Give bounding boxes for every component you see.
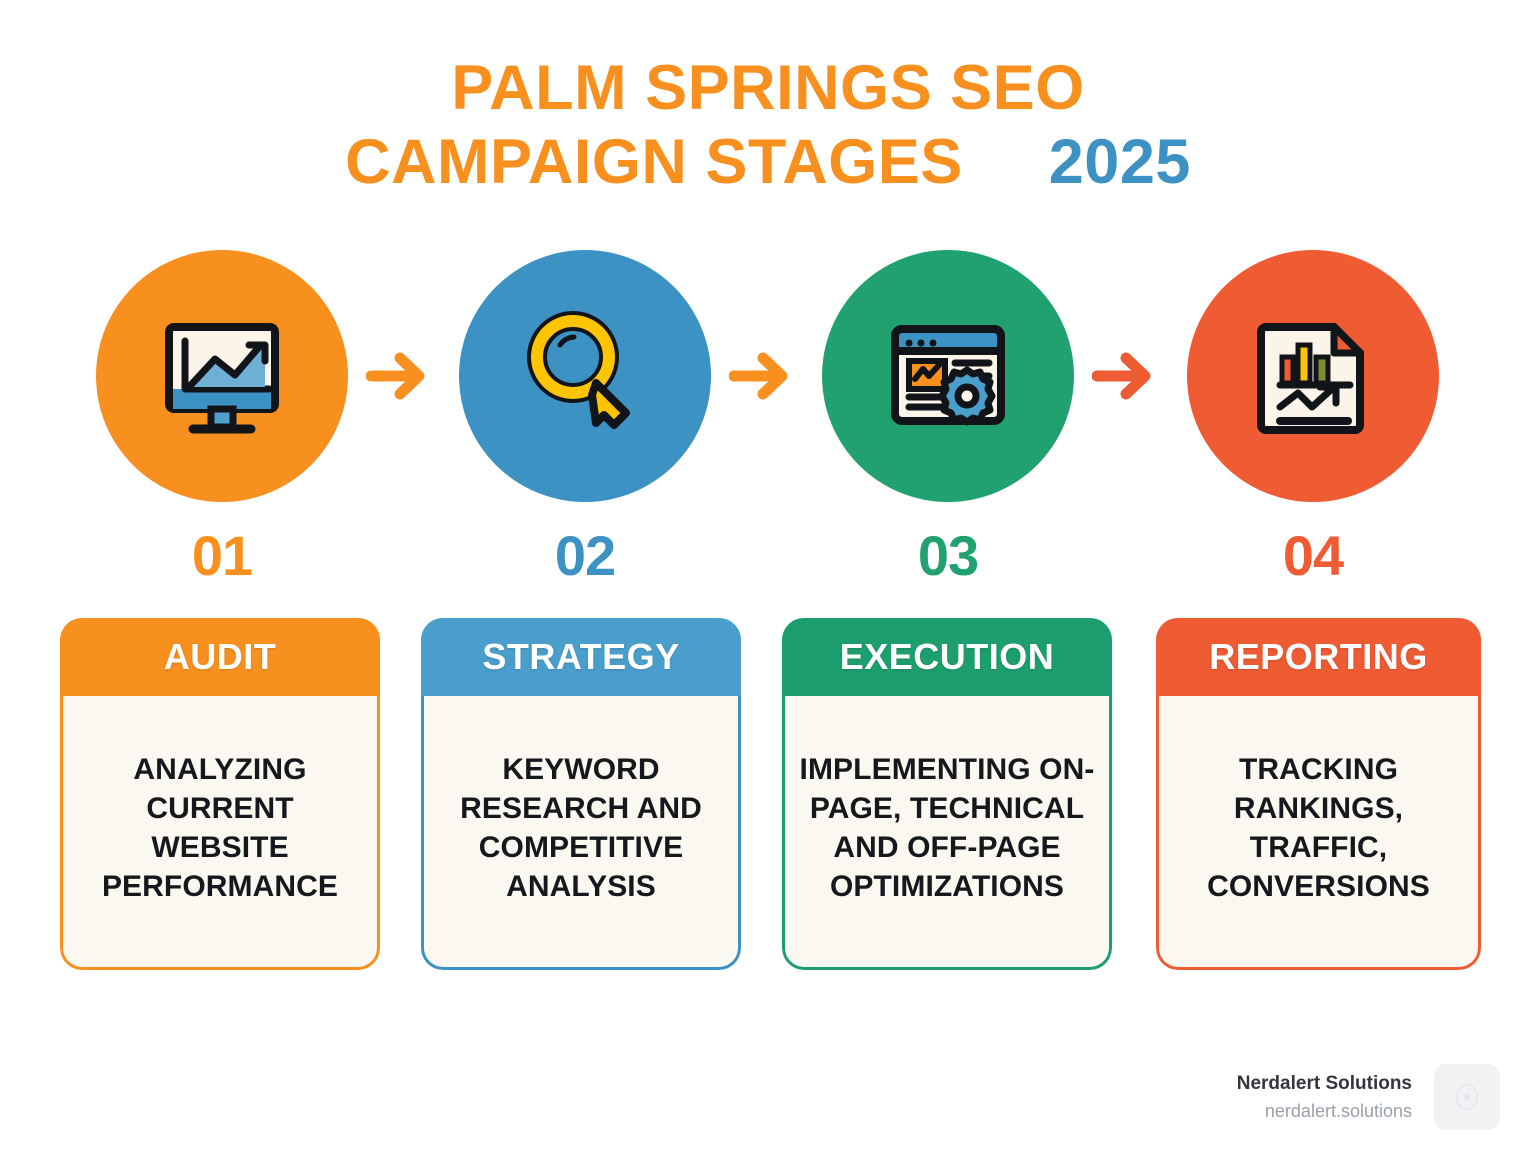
stage-1-icon-circle xyxy=(96,250,348,502)
page-title: PALM SPRINGS SEO CAMPAIGN STAGES2025 xyxy=(0,52,1536,199)
title-line-2-row: CAMPAIGN STAGES2025 xyxy=(0,126,1536,200)
stage-3-description: IMPLEMENTING ON-PAGE, TECHNICAL AND OFF-… xyxy=(799,750,1095,906)
stage-card-reporting: REPORTING TRACKING RANKINGS, TRAFFIC, CO… xyxy=(1156,618,1481,970)
brand-logo-placeholder xyxy=(1434,1064,1500,1130)
egg-mark-icon xyxy=(1452,1081,1482,1113)
title-line-1: PALM SPRINGS SEO xyxy=(0,52,1536,126)
footer-brand-name: Nerdalert Solutions xyxy=(1237,1070,1412,1098)
stage-4-number: 04 xyxy=(1187,528,1439,584)
stage-3-number: 03 xyxy=(822,528,1074,584)
monitor-chart-icon xyxy=(147,301,297,451)
title-year: 2025 xyxy=(1049,127,1191,197)
stage-2-description: KEYWORD RESEARCH AND COMPETITIVE ANALYSI… xyxy=(438,750,724,906)
stage-4-header: REPORTING xyxy=(1156,618,1481,696)
stage-icon-row xyxy=(0,250,1536,502)
magnifying-glass-icon xyxy=(510,301,660,451)
arrow-1 xyxy=(366,346,430,406)
stage-1-description: ANALYZING CURRENT WEBSITE PERFORMANCE xyxy=(77,750,363,906)
stage-number-row: 01 02 03 04 xyxy=(0,528,1536,594)
stage-4-body: TRACKING RANKINGS, TRAFFIC, CONVERSIONS xyxy=(1156,696,1481,970)
stage-2-number: 02 xyxy=(459,528,711,584)
stage-2-header: STRATEGY xyxy=(421,618,741,696)
stage-card-strategy: STRATEGY KEYWORD RESEARCH AND COMPETITIV… xyxy=(421,618,741,970)
arrow-2 xyxy=(729,346,793,406)
stage-2-icon-circle xyxy=(459,250,711,502)
stage-card-audit: AUDIT ANALYZING CURRENT WEBSITE PERFORMA… xyxy=(60,618,380,970)
browser-settings-icon xyxy=(873,301,1023,451)
stage-3-header: EXECUTION xyxy=(782,618,1112,696)
footer-branding: Nerdalert Solutions nerdalert.solutions xyxy=(1237,1064,1500,1130)
title-line-2: CAMPAIGN STAGES xyxy=(345,127,963,197)
stage-1-body: ANALYZING CURRENT WEBSITE PERFORMANCE xyxy=(60,696,380,970)
footer-brand-url: nerdalert.solutions xyxy=(1237,1098,1412,1124)
stage-1-header: AUDIT xyxy=(60,618,380,696)
footer-text-group: Nerdalert Solutions nerdalert.solutions xyxy=(1237,1070,1412,1124)
stage-2-body: KEYWORD RESEARCH AND COMPETITIVE ANALYSI… xyxy=(421,696,741,970)
report-document-icon xyxy=(1238,301,1388,451)
stage-card-row: AUDIT ANALYZING CURRENT WEBSITE PERFORMA… xyxy=(0,618,1536,970)
stage-3-icon-circle xyxy=(822,250,1074,502)
stage-3-body: IMPLEMENTING ON-PAGE, TECHNICAL AND OFF-… xyxy=(782,696,1112,970)
stage-1-number: 01 xyxy=(96,528,348,584)
stage-4-description: TRACKING RANKINGS, TRAFFIC, CONVERSIONS xyxy=(1173,750,1464,906)
stage-card-execution: EXECUTION IMPLEMENTING ON-PAGE, TECHNICA… xyxy=(782,618,1112,970)
arrow-3 xyxy=(1092,346,1156,406)
stage-4-icon-circle xyxy=(1187,250,1439,502)
